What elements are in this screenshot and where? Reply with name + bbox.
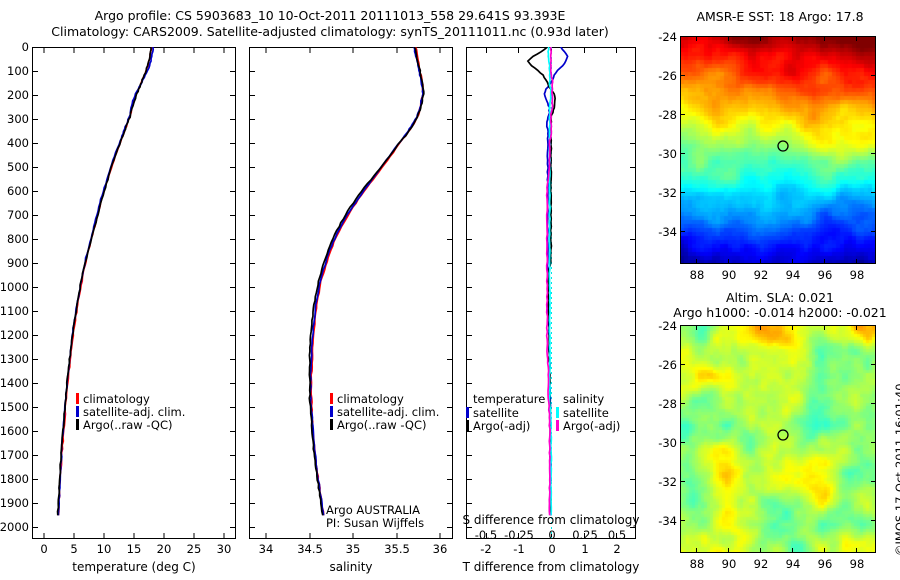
series-climatology	[311, 47, 423, 515]
legend-swatch-argo	[76, 419, 79, 430]
temperature-axis-label: temperature (deg C)	[32, 560, 236, 574]
sla-map-xtick-labels: 88 90 92 94 96 98	[680, 557, 876, 571]
legend-item-temperature-satellite: satellite	[466, 406, 545, 419]
difference-panel	[466, 47, 636, 539]
legend-label-argo: Argo(..raw -QC)	[337, 418, 427, 432]
legend-item-temperature-argo: Argo(-adj)	[466, 419, 545, 432]
temperature-xtick-labels: 0 5 10 15 20 25 30	[32, 542, 236, 556]
salinity-xtick-labels: 34 34.5 35 35.5 36	[249, 542, 453, 556]
legend-swatch-salinity-argo	[556, 420, 559, 431]
salinity-plot-svg	[249, 47, 453, 539]
legend-item-salinity-satellite: satellite	[556, 406, 620, 419]
sla-map-panel	[680, 325, 876, 553]
difference-legend-temperature: temperature satellite Argo(-adj)	[466, 392, 545, 432]
legend-swatch-satellite	[330, 406, 333, 417]
sla-map-overlay	[680, 325, 876, 553]
salinity-panel	[249, 47, 453, 539]
salinity-axis-label: salinity	[249, 560, 453, 574]
sst-map-overlay	[680, 36, 876, 264]
copyright-text-wrap: ©IMOS 17-Oct-2011 16:01:40	[893, 556, 900, 570]
difference-top-xtick-labels: -0.5 -0.25 0 0.25 0.5	[466, 528, 636, 542]
legend-item-salinity-argo: Argo(-adj)	[556, 419, 620, 432]
legend-swatch-climatology	[330, 393, 333, 404]
sst-map-panel	[680, 36, 876, 264]
sst-map-xtick-labels: 88 90 92 94 96 98	[680, 268, 876, 282]
legend-item-satellite: satellite-adj. clim.	[330, 405, 439, 418]
profile-location-marker	[778, 430, 788, 440]
sst-map-title: AMSR-E SST: 18 Argo: 17.8	[660, 9, 900, 24]
series-satellite-adj-clim-	[58, 47, 153, 515]
legend-label-climatology: climatology	[337, 392, 404, 406]
series-argo-raw-qc-	[309, 47, 423, 515]
difference-legend-salinity: salinity satellite Argo(-adj)	[556, 392, 620, 432]
legend-item-climatology: climatology	[76, 392, 185, 405]
legend-heading-temperature: temperature	[466, 392, 545, 406]
legend-label-temperature-satellite: satellite	[473, 406, 519, 420]
legend-item-satellite: satellite-adj. clim.	[76, 405, 185, 418]
legend-swatch-temperature-satellite	[466, 407, 469, 418]
page-title-line2: Climatology: CARS2009. Satellite-adjuste…	[0, 24, 660, 39]
legend-label-temperature-argo: Argo(-adj)	[473, 419, 530, 433]
copyright-text: ©IMOS 17-Oct-2011 16:01:40	[893, 383, 900, 556]
profile-location-marker	[778, 141, 788, 151]
salinity-difference-axis-label: S difference from climatology	[460, 513, 642, 527]
legend-swatch-satellite	[76, 406, 79, 417]
sla-map-title-line2: Argo h1000: -0.014 h2000: -0.021	[655, 305, 900, 320]
temperature-panel	[32, 47, 236, 539]
legend-label-salinity-argo: Argo(-adj)	[563, 419, 620, 433]
page-title-line1: Argo profile: CS 5903683_10 10-Oct-2011 …	[0, 8, 660, 23]
legend-label-satellite: satellite-adj. clim.	[337, 405, 439, 419]
legend-label-climatology: climatology	[83, 392, 150, 406]
temperature-plot-svg	[32, 47, 236, 539]
legend-swatch-temperature-argo	[466, 420, 469, 431]
legend-swatch-climatology	[76, 393, 79, 404]
series-climatology	[58, 47, 151, 515]
temperature-legend: climatology satellite-adj. clim. Argo(..…	[76, 392, 185, 431]
difference-plot-svg	[466, 47, 636, 539]
legend-item-climatology: climatology	[330, 392, 439, 405]
series-argo-raw-qc-	[58, 47, 151, 515]
temperature-difference-axis-label: T difference from climatology	[457, 560, 645, 574]
legend-item-argo: Argo(..raw -QC)	[76, 418, 185, 431]
difference-bottom-xtick-labels: -2 -1 0 1 2	[466, 542, 636, 556]
legend-swatch-argo	[330, 419, 333, 430]
credit-pi: PI: Susan Wijffels	[326, 517, 424, 530]
argo-australia-credit: Argo AUSTRALIA PI: Susan Wijffels	[326, 504, 424, 530]
legend-item-argo: Argo(..raw -QC)	[330, 418, 439, 431]
legend-swatch-salinity-satellite	[556, 407, 559, 418]
legend-label-salinity-satellite: satellite	[563, 406, 609, 420]
legend-label-satellite: satellite-adj. clim.	[83, 405, 185, 419]
legend-heading-salinity: salinity	[556, 392, 620, 406]
salinity-legend: climatology satellite-adj. clim. Argo(..…	[330, 392, 439, 431]
sla-map-title-line1: Altim. SLA: 0.021	[660, 290, 900, 305]
legend-label-argo: Argo(..raw -QC)	[83, 418, 173, 432]
series-satellite-adj-clim-	[310, 47, 423, 515]
